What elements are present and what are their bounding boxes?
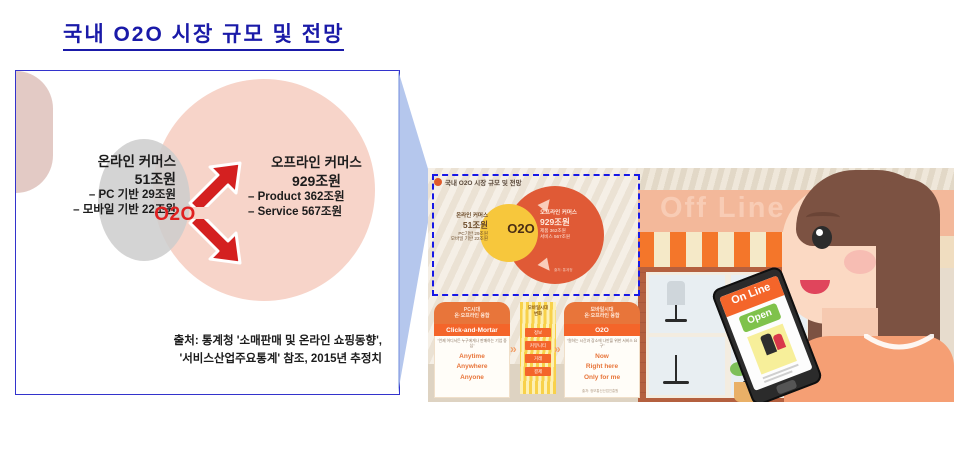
- o2o-infographic-image: Off Line: [428, 168, 954, 402]
- page-title: 국내 O2O 시장 규모 및 전망: [63, 22, 344, 51]
- arrow-down-right-icon: [188, 219, 244, 265]
- comparison-row: PC시대 온·오프라인 융합 Click-and-Mortar "언제 어디서든…: [432, 302, 642, 398]
- mobile-era-quote: "원하는 시간과 장소에 나만을 위한 서비스 요구": [565, 339, 639, 352]
- chevron-right-icon: »: [554, 342, 561, 356]
- highlight-dashed-box: [432, 174, 640, 296]
- pc-era-word-3: Anyone: [460, 373, 484, 383]
- middle-tag-3: 결제: [525, 367, 551, 376]
- pc-era-body: "언제 어디서든 누구에게나 판매하는 기업 중심" Anytime Anywh…: [434, 336, 510, 398]
- storefront-scene: Off Line: [638, 168, 954, 402]
- pc-era-line2: 온·오프라인 융합: [454, 313, 489, 319]
- o2o-band: O2O: [564, 324, 640, 336]
- mobile-era-word-1: Now: [595, 352, 609, 362]
- middle-tag-1: 커뮤니티: [525, 341, 551, 350]
- source-line-2: '서비스산업주요통계' 참조, 2015년 추정치: [16, 351, 382, 369]
- middle-title-line2: 변화: [534, 311, 542, 316]
- compare-source-note: 출처: 정보통신산업진흥원: [582, 388, 618, 393]
- shop-window: [646, 334, 728, 398]
- middle-title: 모바일시대 변화: [520, 305, 556, 316]
- eyebrow: [806, 212, 840, 223]
- pc-era-caption: PC시대 온·오프라인 융합: [434, 302, 510, 324]
- middle-tag-0: 정보: [525, 328, 551, 337]
- page-root: 국내 O2O 시장 규모 및 전망 온라인 커머스 51조원 – PC 기반 2…: [0, 0, 954, 449]
- mobile-era-line2: 온·오프라인 융합: [584, 313, 619, 319]
- woman-illustration: On Line Open: [756, 168, 954, 402]
- source-line-1: 출처: 통계청 '소매판매 및 온라인 쇼핑동향',: [16, 333, 382, 351]
- pc-era-word-1: Anytime: [459, 352, 485, 362]
- online-value: 51조원: [26, 171, 176, 189]
- venn-diagram-panel: 온라인 커머스 51조원 – PC 기반 29조원 – 모바일 기반 22조원 …: [15, 70, 400, 395]
- compare-column-middle: 모바일시대 변화 정보 커뮤니티 거래 결제: [520, 302, 556, 394]
- offline-commerce-label: 오프라인 커머스 929조원 – Product 362조원 – Service…: [234, 154, 399, 220]
- compare-column-pc: PC시대 온·오프라인 융합 Click-and-Mortar "언제 어디서든…: [434, 302, 510, 398]
- middle-title-line1: 모바일시대: [528, 305, 548, 310]
- offline-heading: 오프라인 커머스: [234, 154, 399, 172]
- compare-column-mobile: 모바일시대 온·오프라인 융합 O2O "원하는 시간과 장소에 나만을 위한 …: [564, 302, 640, 398]
- zoom-connector-wedge: [398, 70, 432, 393]
- click-and-mortar-band: Click-and-Mortar: [434, 324, 510, 336]
- source-note: 출처: 통계청 '소매판매 및 온라인 쇼핑동향', '서비스산업주요통계' 참…: [16, 333, 396, 369]
- mobile-era-word-3: Only for me: [584, 373, 620, 383]
- offline-sub-product: – Product 362조원: [234, 190, 399, 205]
- pc-era-quote: "언제 어디서든 누구에게나 판매하는 기업 중심": [435, 339, 509, 352]
- cheek-blush: [844, 250, 876, 274]
- middle-tag-2: 거래: [525, 354, 551, 363]
- mobile-era-caption: 모바일시대 온·오프라인 융합: [564, 302, 640, 324]
- online-sub-pc: – PC 기반 29조원: [26, 188, 176, 202]
- offline-value: 929조원: [234, 172, 399, 190]
- pc-era-word-2: Anywhere: [456, 362, 487, 372]
- offline-sub-service: – Service 567조원: [234, 205, 399, 220]
- online-heading: 온라인 커머스: [26, 154, 176, 171]
- mobile-era-word-2: Right here: [586, 362, 618, 372]
- necklace-icon: [864, 334, 934, 356]
- eye-highlight: [816, 229, 823, 236]
- chevron-right-icon: »: [510, 342, 517, 356]
